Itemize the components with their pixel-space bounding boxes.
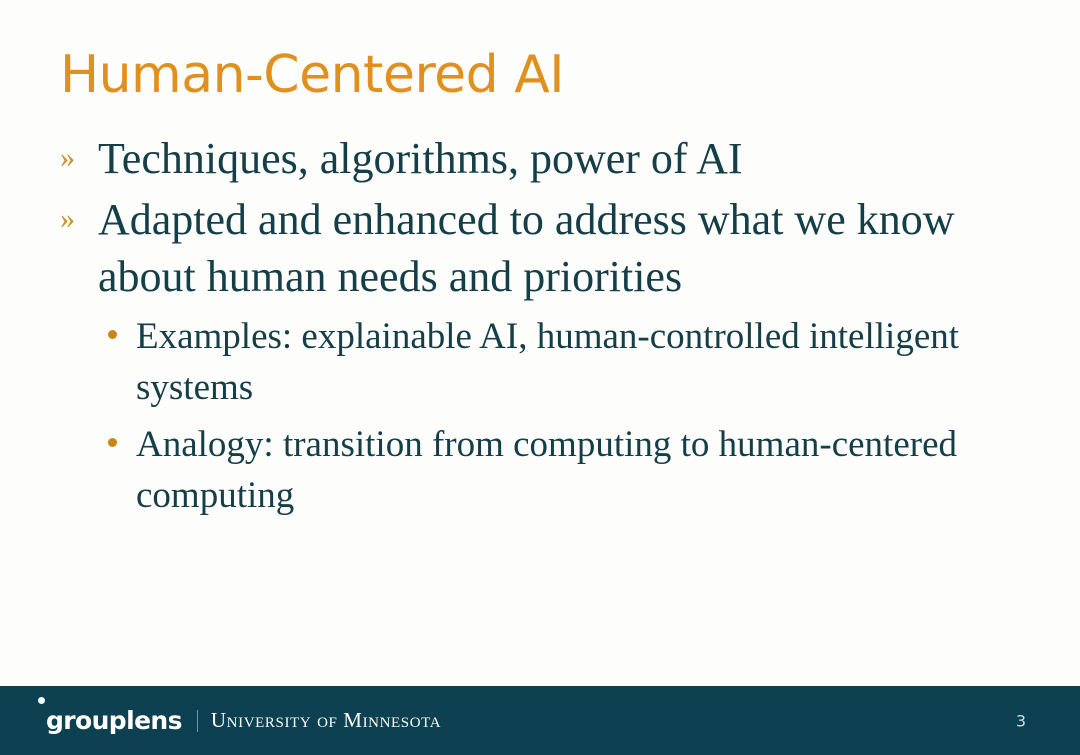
footer-brand: grouplens University of Minnesota: [46, 708, 441, 733]
bullet-item: » Techniques, algorithms, power of AI: [52, 130, 1042, 187]
bullet-text: Techniques, algorithms, power of AI: [98, 130, 1028, 187]
sub-bullet-text: Analogy: transition from computing to hu…: [136, 419, 966, 521]
dot-bullet-icon: [100, 311, 136, 339]
sub-bullet-item: Analogy: transition from computing to hu…: [100, 419, 1042, 521]
footer-divider: [197, 710, 198, 732]
university-wordmark: University of Minnesota: [211, 710, 441, 731]
bullet-text: Adapted and enhanced to address what we …: [98, 191, 1028, 305]
slide-footer: grouplens University of Minnesota 3: [0, 686, 1080, 755]
bullet-item: » Adapted and enhanced to address what w…: [52, 191, 1042, 305]
slide-body: » Techniques, algorithms, power of AI » …: [52, 130, 1042, 527]
sub-bullet-text: Examples: explainable AI, human-controll…: [136, 311, 966, 413]
chevron-bullet-icon: »: [52, 191, 98, 247]
sub-bullet-list: Examples: explainable AI, human-controll…: [100, 311, 1042, 521]
slide: Human-Centered AI » Techniques, algorith…: [0, 0, 1080, 755]
grouplens-logo: grouplens: [46, 708, 182, 733]
page-number: 3: [1016, 711, 1026, 730]
sub-bullet-item: Examples: explainable AI, human-controll…: [100, 311, 1042, 413]
dot-bullet-icon: [100, 419, 136, 447]
chevron-bullet-icon: »: [52, 130, 98, 186]
page-title: Human-Centered AI: [60, 43, 564, 108]
